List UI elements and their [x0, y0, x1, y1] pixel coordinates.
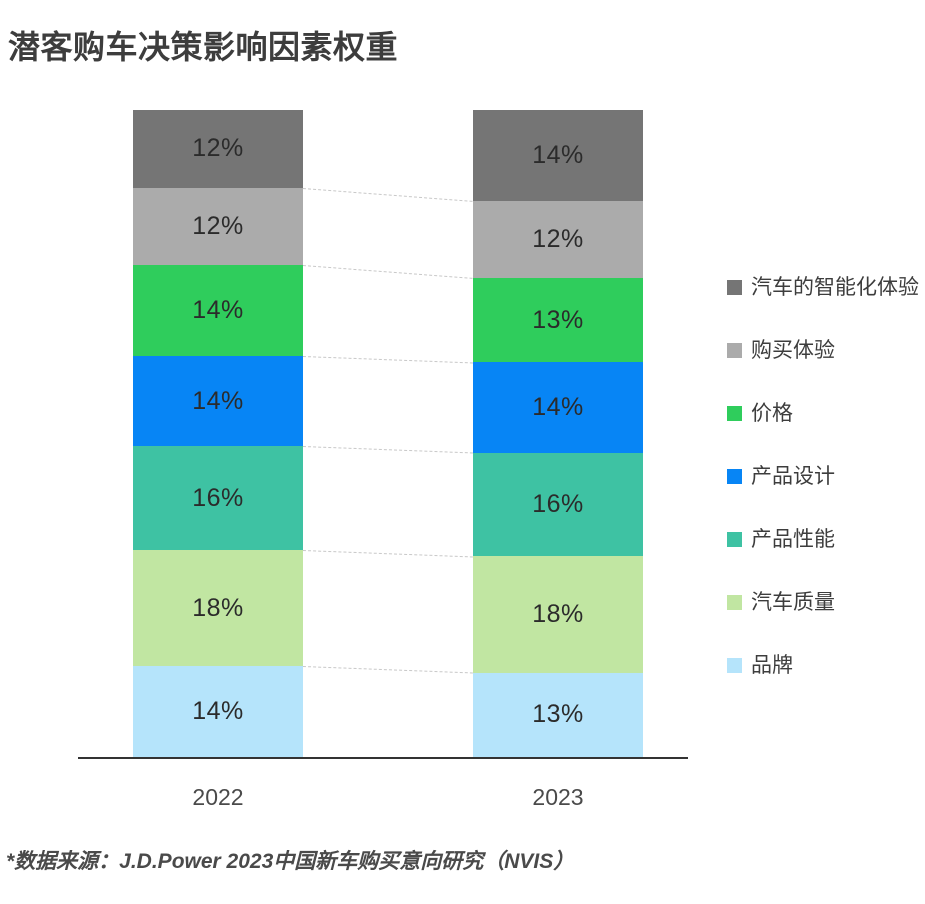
legend-item-label: 购买体验 — [751, 340, 835, 361]
bar-segment-value-label: 13% — [532, 702, 584, 727]
bar-segment-value-label: 13% — [532, 308, 584, 333]
bar-segment-2022-4[interactable]: 16% — [133, 446, 303, 550]
legend-swatch-icon — [727, 532, 742, 547]
bar-segment-value-label: 12% — [192, 136, 244, 161]
bar-segment-value-label: 14% — [192, 389, 244, 414]
legend-item-label: 产品性能 — [751, 529, 835, 550]
legend-item-0[interactable]: 汽车的智能化体验 — [727, 256, 919, 319]
connector-line — [303, 446, 473, 453]
bar-segment-2022-3[interactable]: 14% — [133, 356, 303, 447]
segment-connector-lines — [303, 110, 473, 757]
watermark — [800, 868, 920, 898]
legend-item-label: 汽车质量 — [751, 592, 835, 613]
connector-line — [303, 356, 473, 363]
bar-segment-2023-6[interactable]: 13% — [473, 673, 643, 757]
bar-segment-value-label: 14% — [532, 395, 584, 420]
bar-segment-2023-2[interactable]: 13% — [473, 278, 643, 362]
legend-swatch-icon — [727, 469, 742, 484]
bar-segment-2023-5[interactable]: 18% — [473, 556, 643, 672]
stacked-bar-2023[interactable]: 14%12%13%14%16%18%13% — [473, 110, 643, 757]
bar-segment-2023-0[interactable]: 14% — [473, 110, 643, 201]
bar-segment-2023-3[interactable]: 14% — [473, 362, 643, 453]
legend-swatch-icon — [727, 406, 742, 421]
bar-segment-2023-4[interactable]: 16% — [473, 453, 643, 557]
legend-item-label: 产品设计 — [751, 466, 835, 487]
connector-line — [303, 550, 473, 557]
legend-swatch-icon — [727, 343, 742, 358]
chart-container: 潜客购车决策影响因素权重 12%12%14%14%16%18%14% 14%12… — [0, 0, 925, 904]
chart-legend: 汽车的智能化体验购买体验价格产品设计产品性能汽车质量品牌 — [727, 256, 919, 697]
stacked-bar-2022[interactable]: 12%12%14%14%16%18%14% — [133, 110, 303, 757]
connector-line — [303, 265, 473, 279]
legend-item-6[interactable]: 品牌 — [727, 634, 919, 697]
plot-area: 12%12%14%14%16%18%14% 14%12%13%14%16%18%… — [0, 110, 710, 760]
legend-swatch-icon — [727, 658, 742, 673]
bar-segment-value-label: 16% — [192, 486, 244, 511]
x-axis-tick-2023: 2023 — [473, 784, 643, 811]
legend-item-3[interactable]: 产品设计 — [727, 445, 919, 508]
x-axis-line — [78, 757, 688, 759]
legend-item-label: 汽车的智能化体验 — [751, 277, 919, 298]
page-title: 潜客购车决策影响因素权重 — [8, 22, 398, 68]
bar-segment-2022-2[interactable]: 14% — [133, 265, 303, 356]
bar-segment-value-label: 12% — [532, 227, 584, 252]
legend-item-1[interactable]: 购买体验 — [727, 319, 919, 382]
legend-swatch-icon — [727, 595, 742, 610]
legend-item-4[interactable]: 产品性能 — [727, 508, 919, 571]
legend-item-label: 品牌 — [751, 655, 793, 676]
bar-segment-value-label: 18% — [192, 596, 244, 621]
legend-item-2[interactable]: 价格 — [727, 382, 919, 445]
bar-segment-value-label: 12% — [192, 214, 244, 239]
legend-item-label: 价格 — [751, 403, 793, 424]
legend-item-5[interactable]: 汽车质量 — [727, 571, 919, 634]
connector-line — [303, 666, 473, 673]
bar-segment-2023-1[interactable]: 12% — [473, 201, 643, 279]
bar-segment-2022-6[interactable]: 14% — [133, 666, 303, 757]
bar-segment-value-label: 18% — [532, 602, 584, 627]
bar-segment-value-label: 16% — [532, 492, 584, 517]
bar-segment-2022-1[interactable]: 12% — [133, 188, 303, 266]
bar-segment-value-label: 14% — [532, 143, 584, 168]
bar-segment-value-label: 14% — [192, 298, 244, 323]
source-footnote: *数据来源：J.D.Power 2023中国新车购买意向研究（NVIS） — [6, 845, 574, 875]
bar-segment-value-label: 14% — [192, 699, 244, 724]
connector-line — [303, 188, 473, 202]
legend-swatch-icon — [727, 280, 742, 295]
bar-segment-2022-0[interactable]: 12% — [133, 110, 303, 188]
bar-segment-2022-5[interactable]: 18% — [133, 550, 303, 666]
x-axis-tick-2022: 2022 — [133, 784, 303, 811]
